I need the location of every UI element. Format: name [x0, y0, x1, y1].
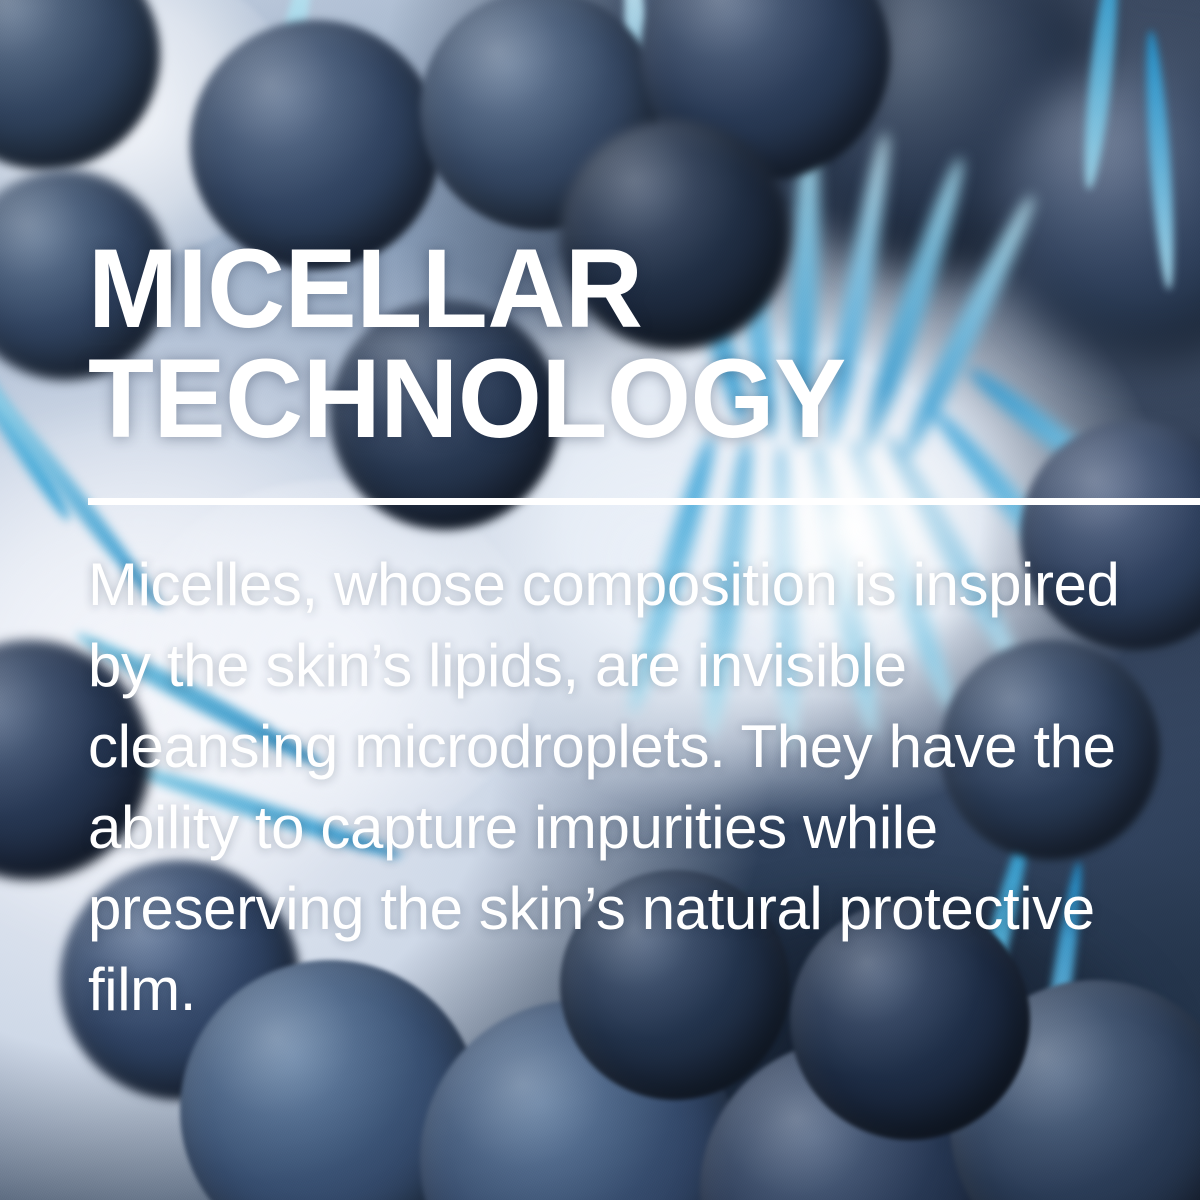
body-line: Micelles, whose composition is inspired — [88, 544, 1163, 625]
page-title: MICELLAR TECHNOLOGY — [88, 234, 1138, 454]
content-overlay: MICELLAR TECHNOLOGY Micelles, whose comp… — [88, 0, 1200, 1200]
body-line: film. — [88, 949, 1163, 1030]
body-line: ability to capture impurities while — [88, 787, 1163, 868]
headline-line-1: MICELLAR — [88, 234, 1101, 344]
title-divider-rule — [88, 498, 1200, 505]
body-paragraph: Micelles, whose composition is inspired … — [88, 544, 1163, 1030]
body-line: preserving the skin’s natural protective — [88, 868, 1163, 949]
headline-line-2: TECHNOLOGY — [88, 344, 1101, 454]
body-line: by the skin’s lipids, are invisible — [88, 625, 1163, 706]
body-line: cleansing microdroplets. They have the — [88, 706, 1163, 787]
infographic-panel: MICELLAR TECHNOLOGY Micelles, whose comp… — [0, 0, 1200, 1200]
